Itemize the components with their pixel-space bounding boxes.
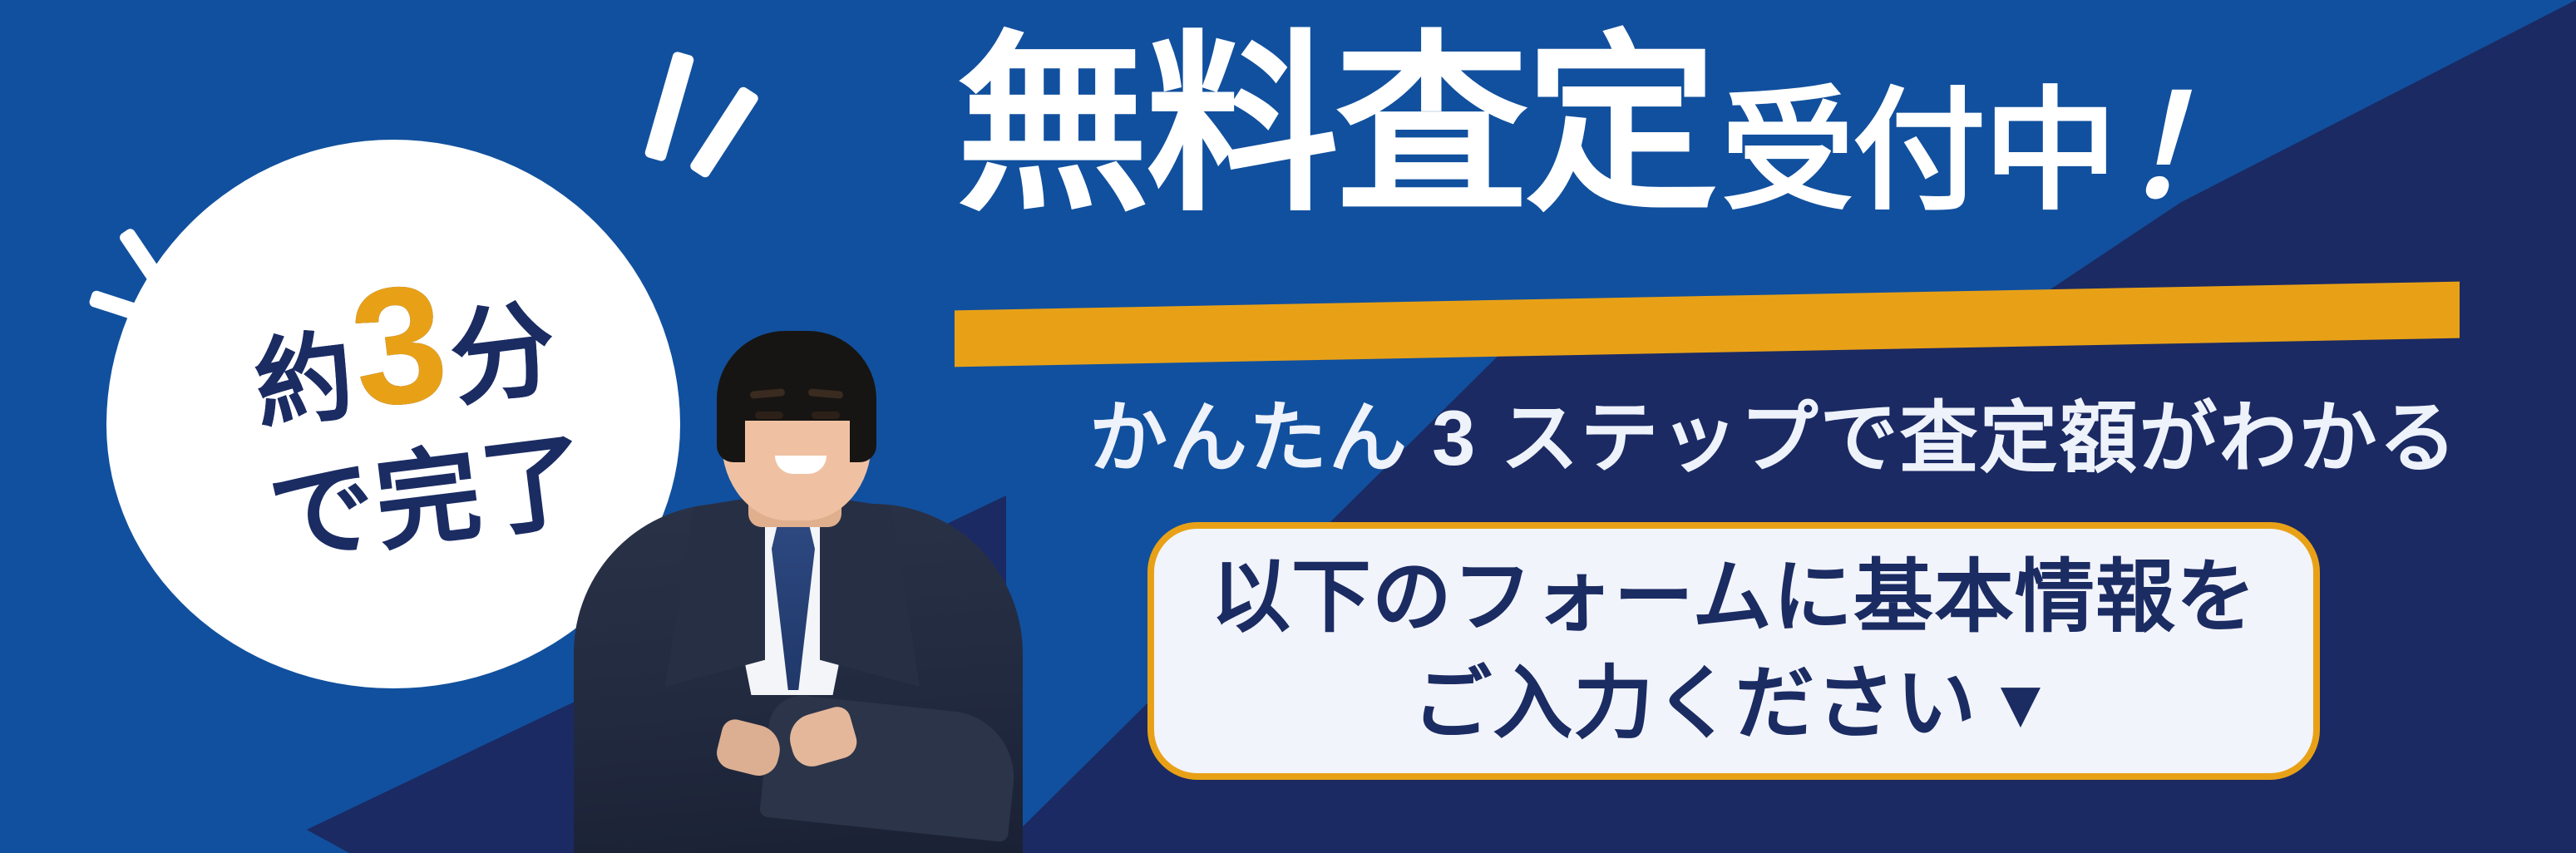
- headline-sub: 受付中: [1721, 85, 2115, 223]
- headline-underline-bar: [955, 282, 2460, 367]
- portrait-hair-side-right: [850, 386, 876, 462]
- caret-down-icon: ▼: [1986, 668, 2055, 742]
- cta-line2: ご入力ください ▼: [1412, 661, 2055, 747]
- headline-main: 無料査定: [956, 30, 1715, 223]
- subtitle: かんたん 3 ステップで査定額がわかる: [1089, 399, 2459, 477]
- free-appraisal-banner: 約 3 分 で完了 無料査定 受付中 ！ かんた: [0, 0, 2576, 853]
- cta-line2-text: ご入力ください: [1412, 661, 1976, 747]
- portrait-eye-right: [812, 412, 840, 419]
- headline: 無料査定 受付中 ！: [956, 30, 2260, 223]
- cta-line1: 以下のフォームに基本情報を: [1211, 555, 2257, 641]
- portrait-hair-side-left: [717, 386, 745, 462]
- headline-exclamation: ！: [2120, 78, 2260, 223]
- portrait-eye-left: [755, 412, 783, 419]
- banner-right-column: 無料査定 受付中 ！ かんたん 3 ステップで査定額がわかる 以下のフォームに基…: [940, 0, 2576, 853]
- cta-instruction-box[interactable]: 以下のフォームに基本情報を ご入力ください ▼: [1147, 522, 2320, 780]
